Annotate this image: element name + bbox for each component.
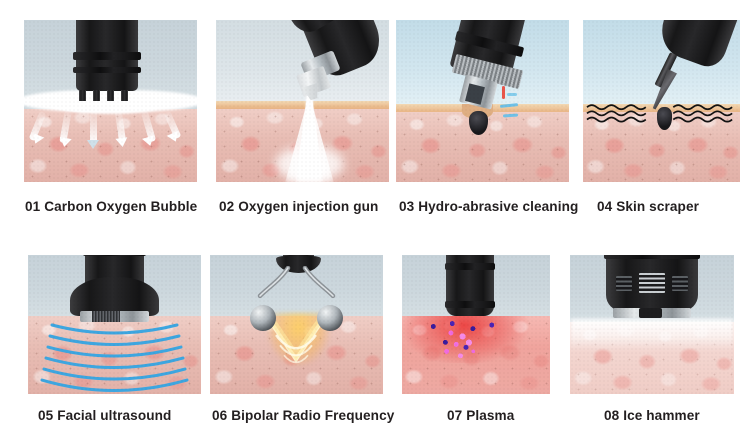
- card-08-ice-hammer[interactable]: [570, 255, 734, 394]
- card-01-label: 01 Carbon Oxygen Bubble: [25, 199, 197, 214]
- card-06-bipolar-radio-frequency[interactable]: [210, 255, 383, 394]
- card-03-label: 03 Hydro-abrasive cleaning: [399, 199, 578, 214]
- oxygen-injection-gun-illustration: [216, 20, 389, 182]
- carbon-oxygen-bubble-illustration: [24, 20, 197, 182]
- card-01-carbon-oxygen-bubble[interactable]: [24, 20, 197, 182]
- card-05-facial-ultrasound[interactable]: [28, 255, 201, 394]
- card-04-skin-scraper[interactable]: [583, 20, 740, 182]
- card-05-label: 05 Facial ultrasound: [38, 408, 171, 423]
- facial-ultrasound-illustration: [28, 255, 201, 394]
- card-02-oxygen-injection-gun[interactable]: [216, 20, 389, 182]
- card-06-label: 06 Bipolar Radio Frequency: [212, 408, 394, 423]
- card-08-label: 08 Ice hammer: [604, 408, 700, 423]
- hydro-abrasive-cleaning-illustration: [396, 20, 569, 182]
- skin-scraper-illustration: [583, 20, 740, 182]
- card-02-label: 02 Oxygen injection gun: [219, 199, 378, 214]
- product-function-grid: 01 Carbon Oxygen Bubble 02 Oxygen inject…: [0, 0, 750, 445]
- ice-hammer-illustration: [570, 255, 734, 394]
- bipolar-radio-frequency-illustration: [210, 255, 383, 394]
- card-04-label: 04 Skin scraper: [597, 199, 699, 214]
- card-07-plasma[interactable]: [402, 255, 550, 394]
- card-07-label: 07 Plasma: [447, 408, 514, 423]
- card-03-hydro-abrasive-cleaning[interactable]: [396, 20, 569, 182]
- plasma-illustration: [402, 255, 550, 394]
